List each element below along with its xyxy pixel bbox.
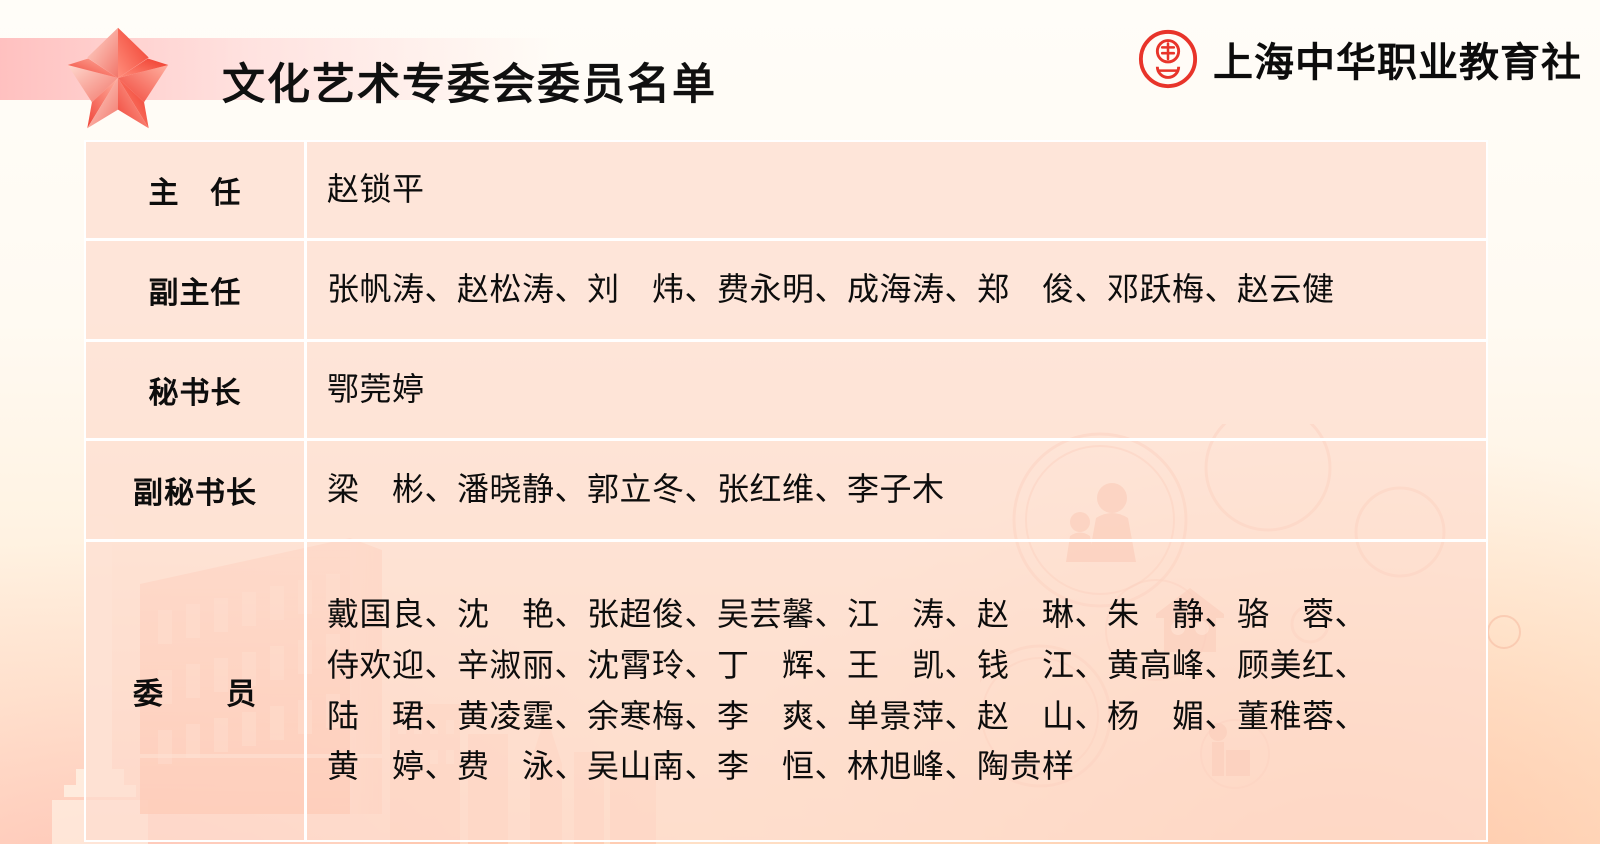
committee-roster-table: 主 任 赵锁平 副主任 张帆涛、赵松涛、刘 炜、费永明、成海涛、郑 俊、邓跃梅、…	[84, 140, 1488, 842]
row-label-deputy-director: 副主任	[86, 241, 307, 342]
name-line: 戴国良、沈 艳、张超俊、吴芸馨、江 涛、赵 琳、朱 静、骆 蓉、	[327, 590, 1472, 640]
name-line: 侍欢迎、辛淑丽、沈霄玲、丁 辉、王 凯、钱 江、黄高峰、顾美红、	[327, 641, 1472, 691]
circular-seal-emblem-icon	[1137, 28, 1199, 90]
page-title: 文化艺术专委会委员名单	[222, 50, 717, 112]
row-label-director: 主 任	[86, 142, 307, 241]
name-line: 赵锁平	[327, 165, 1472, 215]
name-line: 鄂莞婷	[327, 365, 1472, 415]
table-row: 副主任 张帆涛、赵松涛、刘 炜、费永明、成海涛、郑 俊、邓跃梅、赵云健	[86, 241, 1486, 342]
row-value-director: 赵锁平	[307, 142, 1486, 241]
name-line: 陆 珺、黄凌霆、余寒梅、李 爽、单景萍、赵 山、杨 媚、董稚蓉、	[327, 692, 1472, 742]
name-line: 张帆涛、赵松涛、刘 炜、费永明、成海涛、郑 俊、邓跃梅、赵云健	[327, 265, 1472, 315]
five-pointed-star-icon	[62, 24, 174, 132]
row-label-members: 委 员	[86, 542, 307, 840]
name-line: 梁 彬、潘晓静、郭立冬、张红维、李子木	[327, 465, 1472, 515]
table-row: 副秘书长 梁 彬、潘晓静、郭立冬、张红维、李子木	[86, 441, 1486, 542]
table-row: 委 员 戴国良、沈 艳、张超俊、吴芸馨、江 涛、赵 琳、朱 静、骆 蓉、 侍欢迎…	[86, 542, 1486, 840]
organization-logo: 上海中华职业教育社	[1137, 28, 1582, 90]
slide-canvas: 文化艺术专委会委员名单 上海中华职业教育社 主 任 赵锁平 副主任	[0, 0, 1600, 844]
row-value-secretary-general: 鄂莞婷	[307, 342, 1486, 441]
logo-text: 上海中华职业教育社	[1213, 30, 1582, 88]
table-row: 秘书长 鄂莞婷	[86, 342, 1486, 441]
row-label-deputy-secretary-general: 副秘书长	[86, 441, 307, 542]
row-value-members: 戴国良、沈 艳、张超俊、吴芸馨、江 涛、赵 琳、朱 静、骆 蓉、 侍欢迎、辛淑丽…	[307, 542, 1486, 840]
row-value-deputy-director: 张帆涛、赵松涛、刘 炜、费永明、成海涛、郑 俊、邓跃梅、赵云健	[307, 241, 1486, 342]
row-label-secretary-general: 秘书长	[86, 342, 307, 441]
row-value-deputy-secretary-general: 梁 彬、潘晓静、郭立冬、张红维、李子木	[307, 441, 1486, 542]
table-row: 主 任 赵锁平	[86, 142, 1486, 241]
name-line: 黄 婷、费 泳、吴山南、李 恒、林旭峰、陶贵样	[327, 742, 1472, 792]
